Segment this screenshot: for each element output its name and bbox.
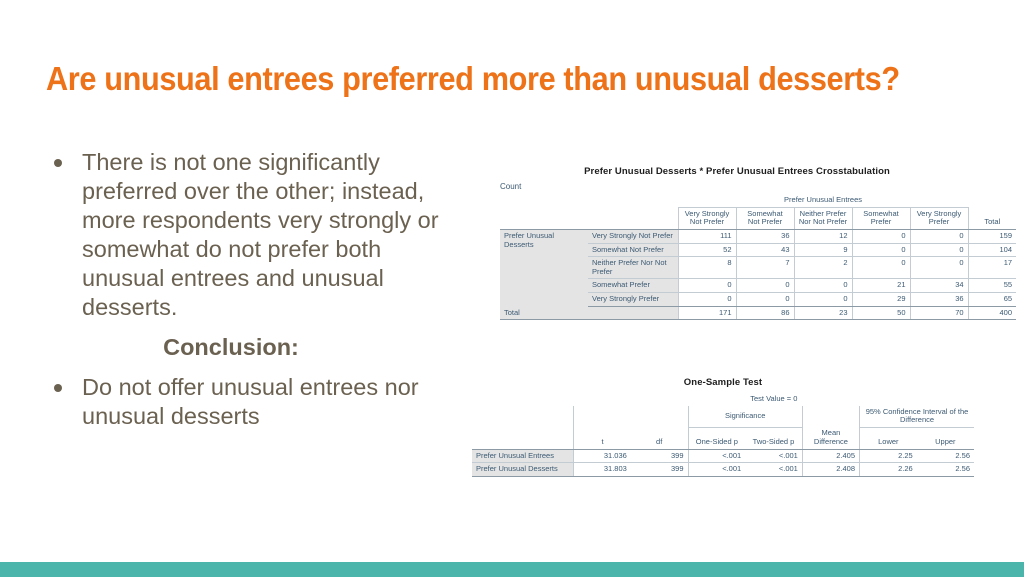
- crosstab-cell: 0: [852, 243, 910, 257]
- crosstab-row-label-0: Very Strongly Not Prefer: [588, 229, 678, 243]
- crosstab-cell: 0: [852, 257, 910, 279]
- bullet-text-recommendation: Do not offer unusual entrees nor unusual…: [82, 373, 466, 431]
- onesample-cell-upper: 2.56: [917, 449, 974, 463]
- page-title: Are unusual entrees preferred more than …: [46, 60, 911, 98]
- onesample-col-header-two-sided-p: Two-Sided p: [745, 427, 802, 449]
- onesample-cell-one-sided-p: <.001: [688, 463, 745, 477]
- table-row: Prefer Unusual Desserts 31.803 399 <.001…: [472, 463, 974, 477]
- crosstab-row-label-1: Somewhat Not Prefer: [588, 243, 678, 257]
- onesample-row-label-1: Prefer Unusual Desserts: [472, 463, 574, 477]
- crosstab-total-label: Total: [500, 306, 678, 320]
- crosstabulation-table: Prefer Unusual Desserts * Prefer Unusual…: [500, 166, 974, 320]
- crosstab-cell: 0: [678, 279, 736, 293]
- crosstab-column-header-row: Very Strongly Not Prefer Somewhat Not Pr…: [500, 207, 1016, 229]
- spacer-cell: [500, 194, 588, 207]
- spacer-cell: [968, 194, 1016, 207]
- crosstab-col-header-3: Somewhat Prefer: [852, 207, 910, 229]
- crosstab-cell: 0: [852, 229, 910, 243]
- body-content: There is not one significantly preferred…: [46, 148, 466, 431]
- onesample-testvalue-row: Test Value = 0: [472, 393, 974, 406]
- crosstab-cell-total: 65: [968, 293, 1016, 307]
- crosstab-cell: 0: [910, 243, 968, 257]
- spacer-cell: [472, 406, 574, 428]
- crosstab-cell: 0: [736, 279, 794, 293]
- onesample-cell-one-sided-p: <.001: [688, 449, 745, 463]
- crosstab-group-header-row: Prefer Unusual Entrees: [500, 194, 1016, 207]
- crosstab-cell: 2: [794, 257, 852, 279]
- crosstab-total-cell: 23: [794, 306, 852, 320]
- onesample-test-value-label: Test Value = 0: [574, 393, 974, 406]
- onesample-grid: Test Value = 0 Significance 95% Confiden…: [472, 393, 974, 477]
- bullet-item-recommendation: Do not offer unusual entrees nor unusual…: [46, 373, 466, 431]
- onesample-cell-mean-difference: 2.408: [802, 463, 859, 477]
- onesample-title: One-Sample Test: [472, 377, 974, 388]
- crosstab-cell: 0: [794, 279, 852, 293]
- crosstab-cell-total: 17: [968, 257, 1016, 279]
- spacer-cell: [574, 406, 631, 428]
- onesample-col-header-upper: Upper: [917, 427, 974, 449]
- crosstab-total-cell: 171: [678, 306, 736, 320]
- spacer-cell: [472, 393, 574, 406]
- onesample-group-header-row: Significance 95% Confidence Interval of …: [472, 406, 974, 428]
- onesample-cell-mean-difference: 2.405: [802, 449, 859, 463]
- crosstab-cell: 52: [678, 243, 736, 257]
- spacer-cell: [472, 427, 574, 449]
- crosstab-cell-total: 55: [968, 279, 1016, 293]
- crosstab-cell: 21: [852, 279, 910, 293]
- conclusion-heading: Conclusion:: [46, 334, 466, 361]
- onesample-cell-lower: 2.26: [860, 463, 917, 477]
- onesample-significance-group-label: Significance: [688, 406, 802, 428]
- crosstab-total-cell: 70: [910, 306, 968, 320]
- onesample-cell-t: 31.803: [574, 463, 631, 477]
- crosstab-row-label-4: Very Strongly Prefer: [588, 293, 678, 307]
- table-row: Prefer Unusual Entrees 31.036 399 <.001 …: [472, 449, 974, 463]
- crosstab-cell: 0: [794, 293, 852, 307]
- bottom-accent-bar: [0, 562, 1024, 577]
- onesample-cell-two-sided-p: <.001: [745, 449, 802, 463]
- crosstab-cell: 9: [794, 243, 852, 257]
- crosstab-cell: 7: [736, 257, 794, 279]
- spacer-cell: [588, 194, 678, 207]
- bullet-item-findings: There is not one significantly preferred…: [46, 148, 466, 322]
- crosstab-cell: 0: [910, 257, 968, 279]
- crosstab-col-header-total: Total: [968, 207, 1016, 229]
- crosstab-grid: Prefer Unusual Entrees Very Strongly Not…: [500, 194, 1016, 320]
- onesample-cell-lower: 2.25: [860, 449, 917, 463]
- crosstab-row-label-3: Somewhat Prefer: [588, 279, 678, 293]
- spacer-cell: [631, 406, 688, 428]
- crosstab-title: Prefer Unusual Desserts * Prefer Unusual…: [500, 166, 974, 177]
- crosstab-cell: 36: [736, 229, 794, 243]
- crosstab-cell: 0: [678, 293, 736, 307]
- onesample-col-header-df: df: [631, 427, 688, 449]
- onesample-column-header-row: t df One-Sided p Two-Sided p Mean Differ…: [472, 427, 974, 449]
- crosstab-cell: 12: [794, 229, 852, 243]
- crosstab-row-label-2: Neither Prefer Nor Not Prefer: [588, 257, 678, 279]
- onesample-cell-two-sided-p: <.001: [745, 463, 802, 477]
- bullet-text-findings: There is not one significantly preferred…: [82, 148, 466, 322]
- onesample-cell-df: 399: [631, 449, 688, 463]
- crosstab-cell: 34: [910, 279, 968, 293]
- bullet-dot-icon: [54, 159, 62, 167]
- crosstab-total-cell: 86: [736, 306, 794, 320]
- crosstab-col-header-4: Very Strongly Prefer: [910, 207, 968, 229]
- onesample-col-header-one-sided-p: One-Sided p: [688, 427, 745, 449]
- crosstab-count-label: Count: [500, 182, 974, 191]
- onesample-cell-upper: 2.56: [917, 463, 974, 477]
- crosstab-cell-total: 159: [968, 229, 1016, 243]
- onesample-cell-df: 399: [631, 463, 688, 477]
- crosstab-col-header-2: Neither Prefer Nor Not Prefer: [794, 207, 852, 229]
- crosstab-cell: 29: [852, 293, 910, 307]
- crosstab-cell: 0: [910, 229, 968, 243]
- crosstab-row-group-label: Prefer Unusual Desserts: [500, 229, 588, 306]
- crosstab-cell: 36: [910, 293, 968, 307]
- crosstab-cell: 43: [736, 243, 794, 257]
- table-row: Prefer Unusual Desserts Very Strongly No…: [500, 229, 1016, 243]
- onesample-cell-t: 31.036: [574, 449, 631, 463]
- crosstab-total-row: Total 171 86 23 50 70 400: [500, 306, 1016, 320]
- spacer-cell: [500, 207, 588, 229]
- spacer-cell: [588, 207, 678, 229]
- onesample-col-header-mean-difference: Mean Difference: [802, 427, 859, 449]
- one-sample-test-table: One-Sample Test Test Value = 0 Significa…: [472, 377, 974, 477]
- spacer-cell: [802, 406, 859, 428]
- crosstab-cell-total: 104: [968, 243, 1016, 257]
- onesample-col-header-t: t: [574, 427, 631, 449]
- crosstab-total-cell: 50: [852, 306, 910, 320]
- crosstab-grand-total: 400: [968, 306, 1016, 320]
- bullet-dot-icon: [54, 384, 62, 392]
- crosstab-cell: 8: [678, 257, 736, 279]
- crosstab-cell: 111: [678, 229, 736, 243]
- onesample-row-label-0: Prefer Unusual Entrees: [472, 449, 574, 463]
- crosstab-cell: 0: [736, 293, 794, 307]
- onesample-ci-group-label: 95% Confidence Interval of the Differenc…: [860, 406, 974, 428]
- crosstab-col-header-1: Somewhat Not Prefer: [736, 207, 794, 229]
- onesample-col-header-lower: Lower: [860, 427, 917, 449]
- crosstab-col-header-0: Very Strongly Not Prefer: [678, 207, 736, 229]
- crosstab-column-group-label: Prefer Unusual Entrees: [678, 194, 968, 207]
